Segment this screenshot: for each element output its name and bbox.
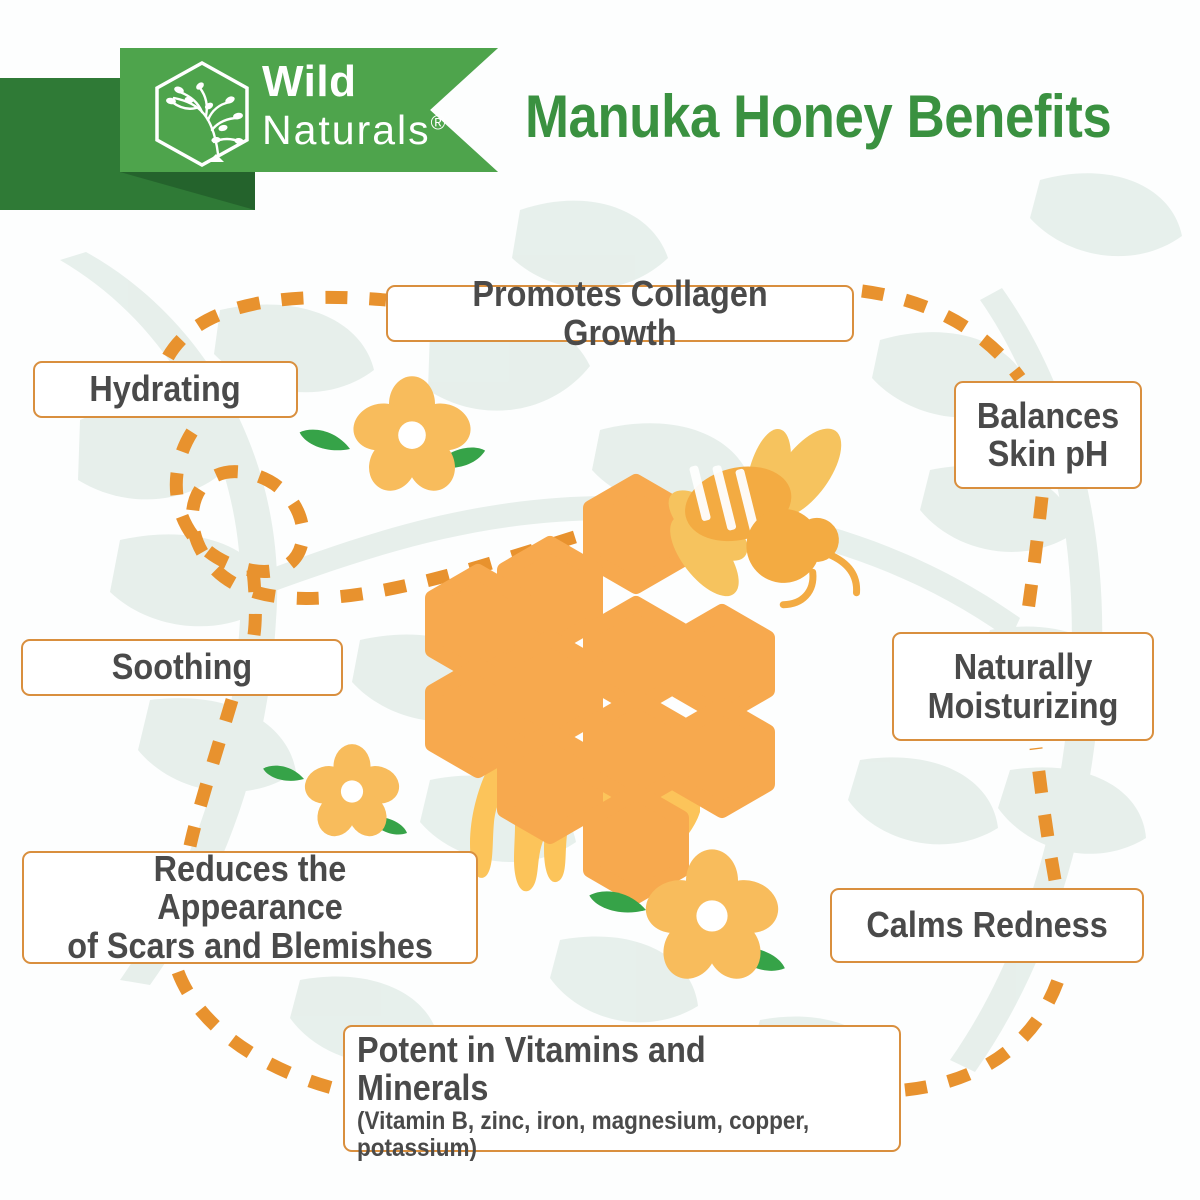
benefit-sublabel-line1: (Vitamin B, zinc, iron, magnesium, coppe… <box>357 1108 834 1134</box>
benefit-soothing[interactable]: Soothing <box>21 639 343 696</box>
benefit-naturally-moisturizing[interactable]: Naturally Moisturizing <box>892 632 1154 741</box>
benefit-label-line2: of Scars and Blemishes <box>67 927 433 965</box>
benefit-calms-redness[interactable]: Calms Redness <box>830 888 1144 963</box>
infographic-canvas: Wild Naturals® Manuka Honey Benefits Pro… <box>0 0 1200 1200</box>
flower-top-left <box>297 376 487 498</box>
benefit-label-line2: Moisturizing <box>928 687 1119 725</box>
benefit-label: Soothing <box>112 648 252 686</box>
path-loop-to-soothing <box>253 570 255 635</box>
logo-line-2: Naturals® <box>262 110 447 151</box>
benefit-label: Promotes Collagen Growth <box>424 275 816 351</box>
logo-wordmark: Wild Naturals® <box>262 60 447 151</box>
benefit-hydrating[interactable]: Hydrating <box>33 361 298 418</box>
path-hydrating-to-collagen <box>168 297 386 357</box>
benefit-potent-in-vitamins-and-minerals[interactable]: Potent in Vitamins and Minerals (Vitamin… <box>343 1025 901 1152</box>
path-collagen-to-ph <box>862 291 1020 378</box>
path-vitamins-to-calms <box>905 968 1062 1090</box>
path-scars-to-vitamins <box>178 972 340 1090</box>
honey-drip <box>470 730 700 892</box>
benefit-promotes-collagen-growth[interactable]: Promotes Collagen Growth <box>386 285 854 342</box>
path-soothing-to-scars <box>190 700 232 846</box>
benefit-label-line1: Balances <box>977 397 1119 435</box>
honeycomb-cluster <box>433 482 767 896</box>
path-hydrating-loop <box>176 432 742 598</box>
hexagon-tree-logo-icon <box>146 58 258 170</box>
benefit-sublabel-line2: potassium) <box>357 1135 834 1161</box>
logo-line-1: Wild <box>262 60 447 104</box>
page-title: Manuka Honey Benefits <box>525 82 1106 151</box>
benefit-balances-skin-ph[interactable]: Balances Skin pH <box>954 381 1142 489</box>
benefit-label: Calms Redness <box>866 906 1107 944</box>
benefit-reduces-appearance-of-scars[interactable]: Reduces the Appearance of Scars and Blem… <box>22 851 478 964</box>
path-calms-to-moisturizing <box>1036 748 1055 880</box>
path-ph-to-moisturizing <box>1026 497 1042 624</box>
benefit-label: Potent in Vitamins and Minerals <box>357 1031 834 1107</box>
bee-icon <box>635 379 905 647</box>
benefit-label-line1: Reduces the Appearance <box>59 850 441 926</box>
benefit-label-line1: Naturally <box>954 648 1093 686</box>
header-banner: Wild Naturals® Manuka Honey Benefits <box>0 0 1200 225</box>
flower-bottom-center <box>587 849 788 987</box>
benefit-label-line2: Skin pH <box>988 435 1109 473</box>
benefit-label: Hydrating <box>90 370 241 408</box>
registered-mark: ® <box>431 112 448 134</box>
flower-mid-left <box>262 744 410 842</box>
